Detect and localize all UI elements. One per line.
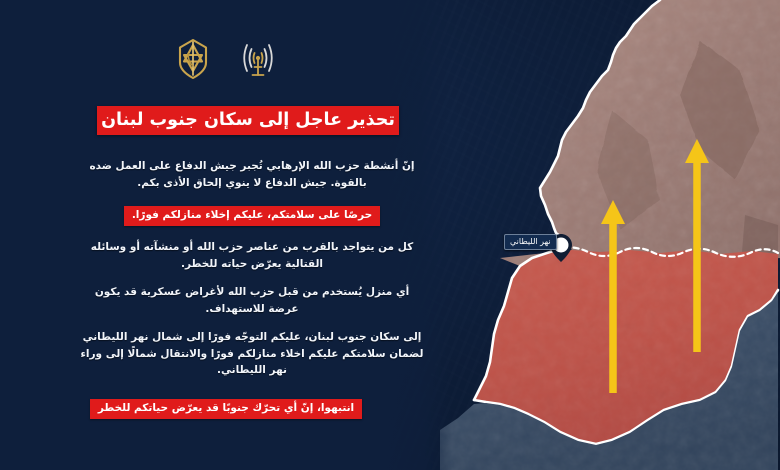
litani-river-label: نهر الليطاني: [504, 234, 557, 250]
footer-warning-banner: انتبهوا، إنّ أي تحرّك جنوبًا قد يعرّض حي…: [90, 399, 362, 419]
banner-wrap-1: حرصًا على سلامتكم، عليكم إخلاء منازلكم ف…: [72, 203, 432, 239]
paragraph-3: كل من يتواجد بالقرب من عناصر حزب الله أو…: [72, 239, 432, 272]
headline-banner: تحذير عاجل إلى سكان جنوب لبنان: [97, 106, 399, 135]
paragraph-1: إنّ أنشطة حزب الله الإرهابي تُجبر جيش ال…: [72, 158, 432, 191]
paragraph-5: إلى سكان جنوب لبنان، عليكم التوجّه فورًا…: [72, 329, 432, 379]
idf-insignia-icon: [172, 36, 214, 82]
broadcast-tower-icon: [236, 37, 280, 81]
highlight-banner-evacuate: حرصًا على سلامتكم، عليكم إخلاء منازلكم ف…: [124, 206, 380, 226]
footer-banner-wrap: انتبهوا، إنّ أي تحرّك جنوبًا قد يعرّض حي…: [0, 396, 452, 419]
paragraph-4: أي منزل يُستخدم من قبل حزب الله لأغراض ع…: [72, 284, 432, 317]
body-text-stack: إنّ أنشطة حزب الله الإرهابي تُجبر جيش ال…: [72, 158, 432, 389]
lebanon-north-of-litani-region: [500, 0, 780, 272]
emblem-row: [0, 36, 452, 82]
message-panel: تحذير عاجل إلى سكان جنوب لبنان إنّ أنشطة…: [0, 0, 452, 470]
warning-graphic: نهر الليطاني: [0, 0, 780, 470]
